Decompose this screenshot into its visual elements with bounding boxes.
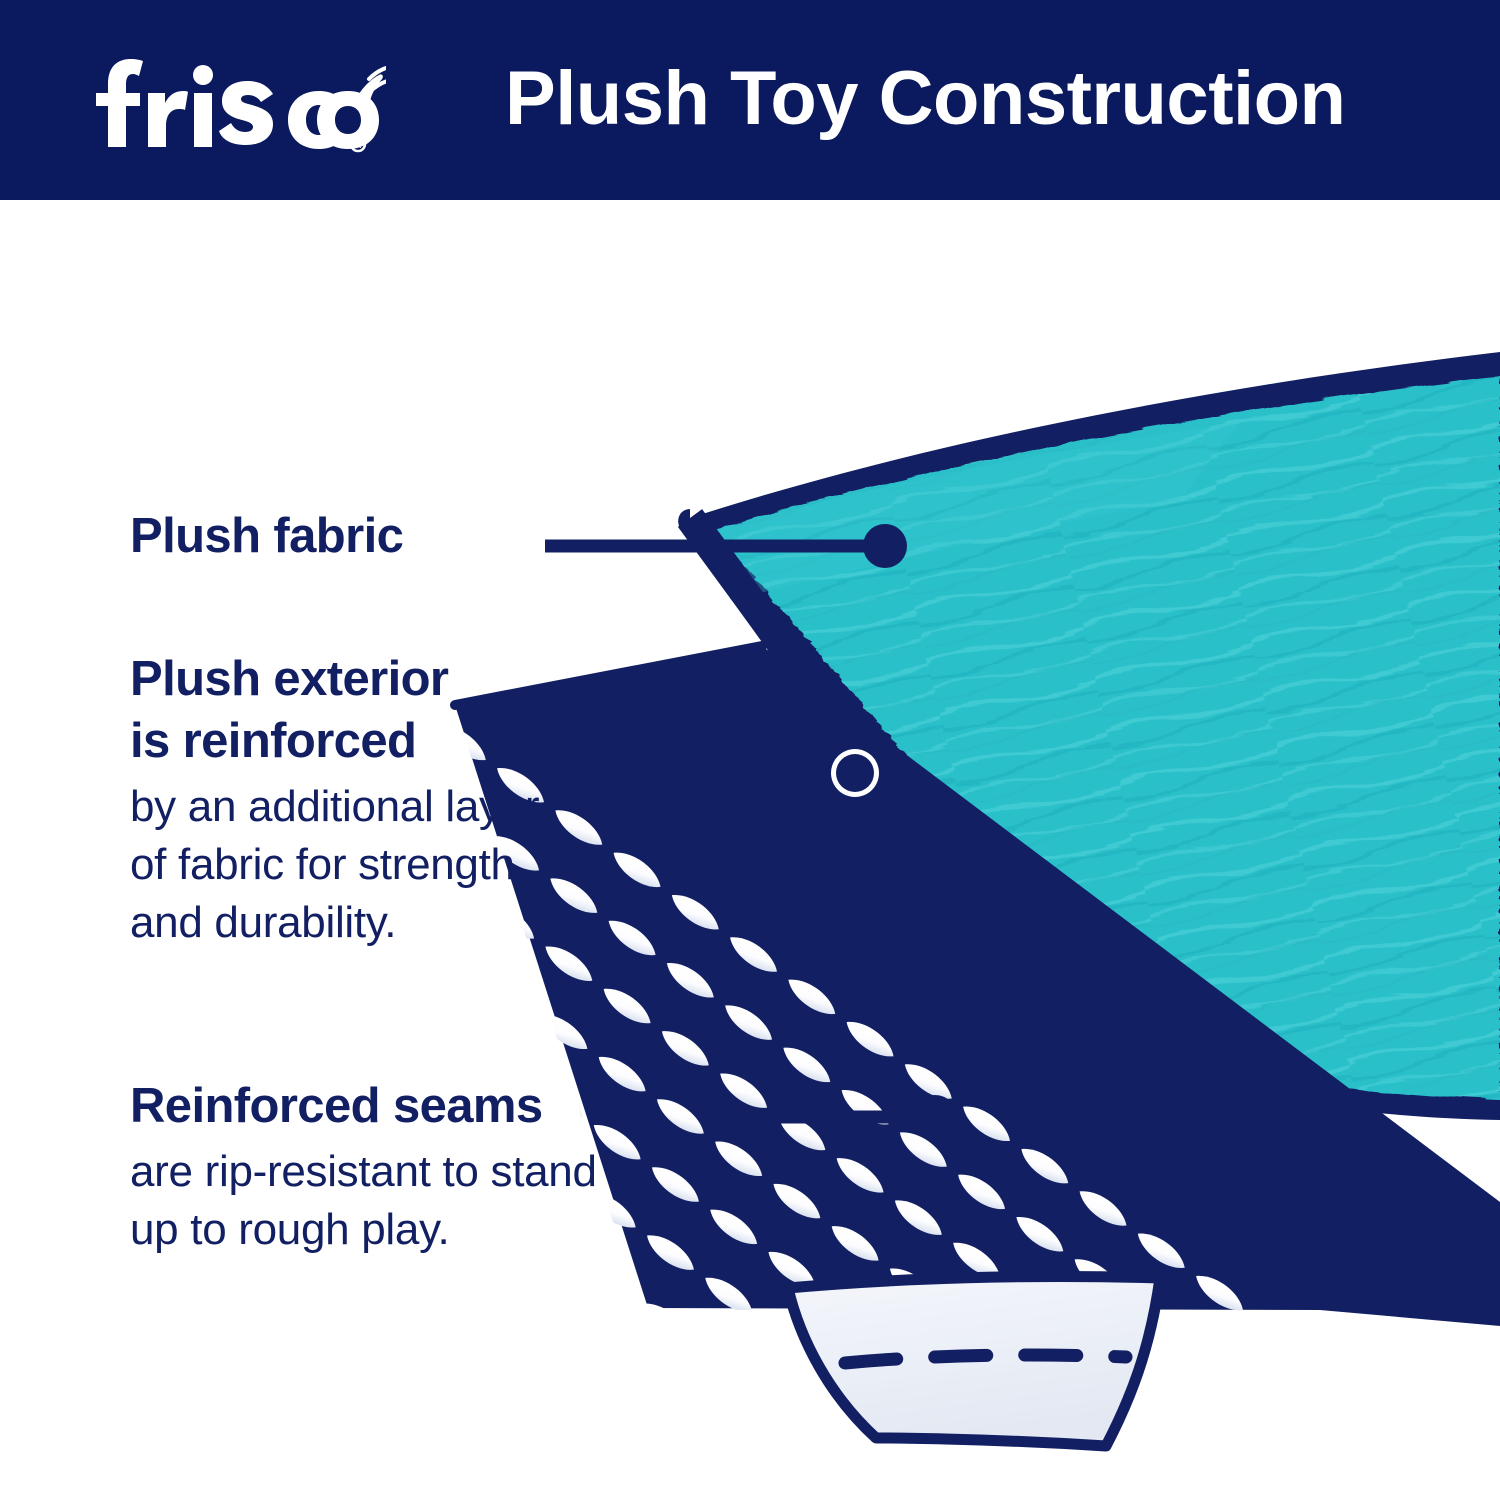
callout-plush-fabric: Plush fabric [130, 505, 600, 567]
frisco-logo: R [86, 45, 386, 155]
callout-plush-exterior: Plush exterior is reinforced by an addit… [130, 648, 730, 952]
callout-plush-exterior-body: by an additional layer of fabric for str… [130, 778, 730, 952]
page-title: Plush Toy Construction [505, 47, 1405, 151]
reinforced-seam-flap [788, 1276, 1160, 1446]
callout-reinforced-seams: Reinforced seams are rip-resistant to st… [130, 1075, 830, 1259]
callout-plush-fabric-heading: Plush fabric [130, 505, 600, 567]
header-bar: R Plush Toy Construction [0, 0, 1500, 200]
callout-plush-exterior-heading: Plush exterior is reinforced [130, 648, 730, 772]
svg-text:R: R [354, 140, 361, 151]
callout-reinforced-seams-body: are rip-resistant to stand up to rough p… [130, 1143, 830, 1259]
callout-reinforced-seams-heading: Reinforced seams [130, 1075, 830, 1137]
infographic-page: R Plush Toy Construction [0, 0, 1500, 1500]
